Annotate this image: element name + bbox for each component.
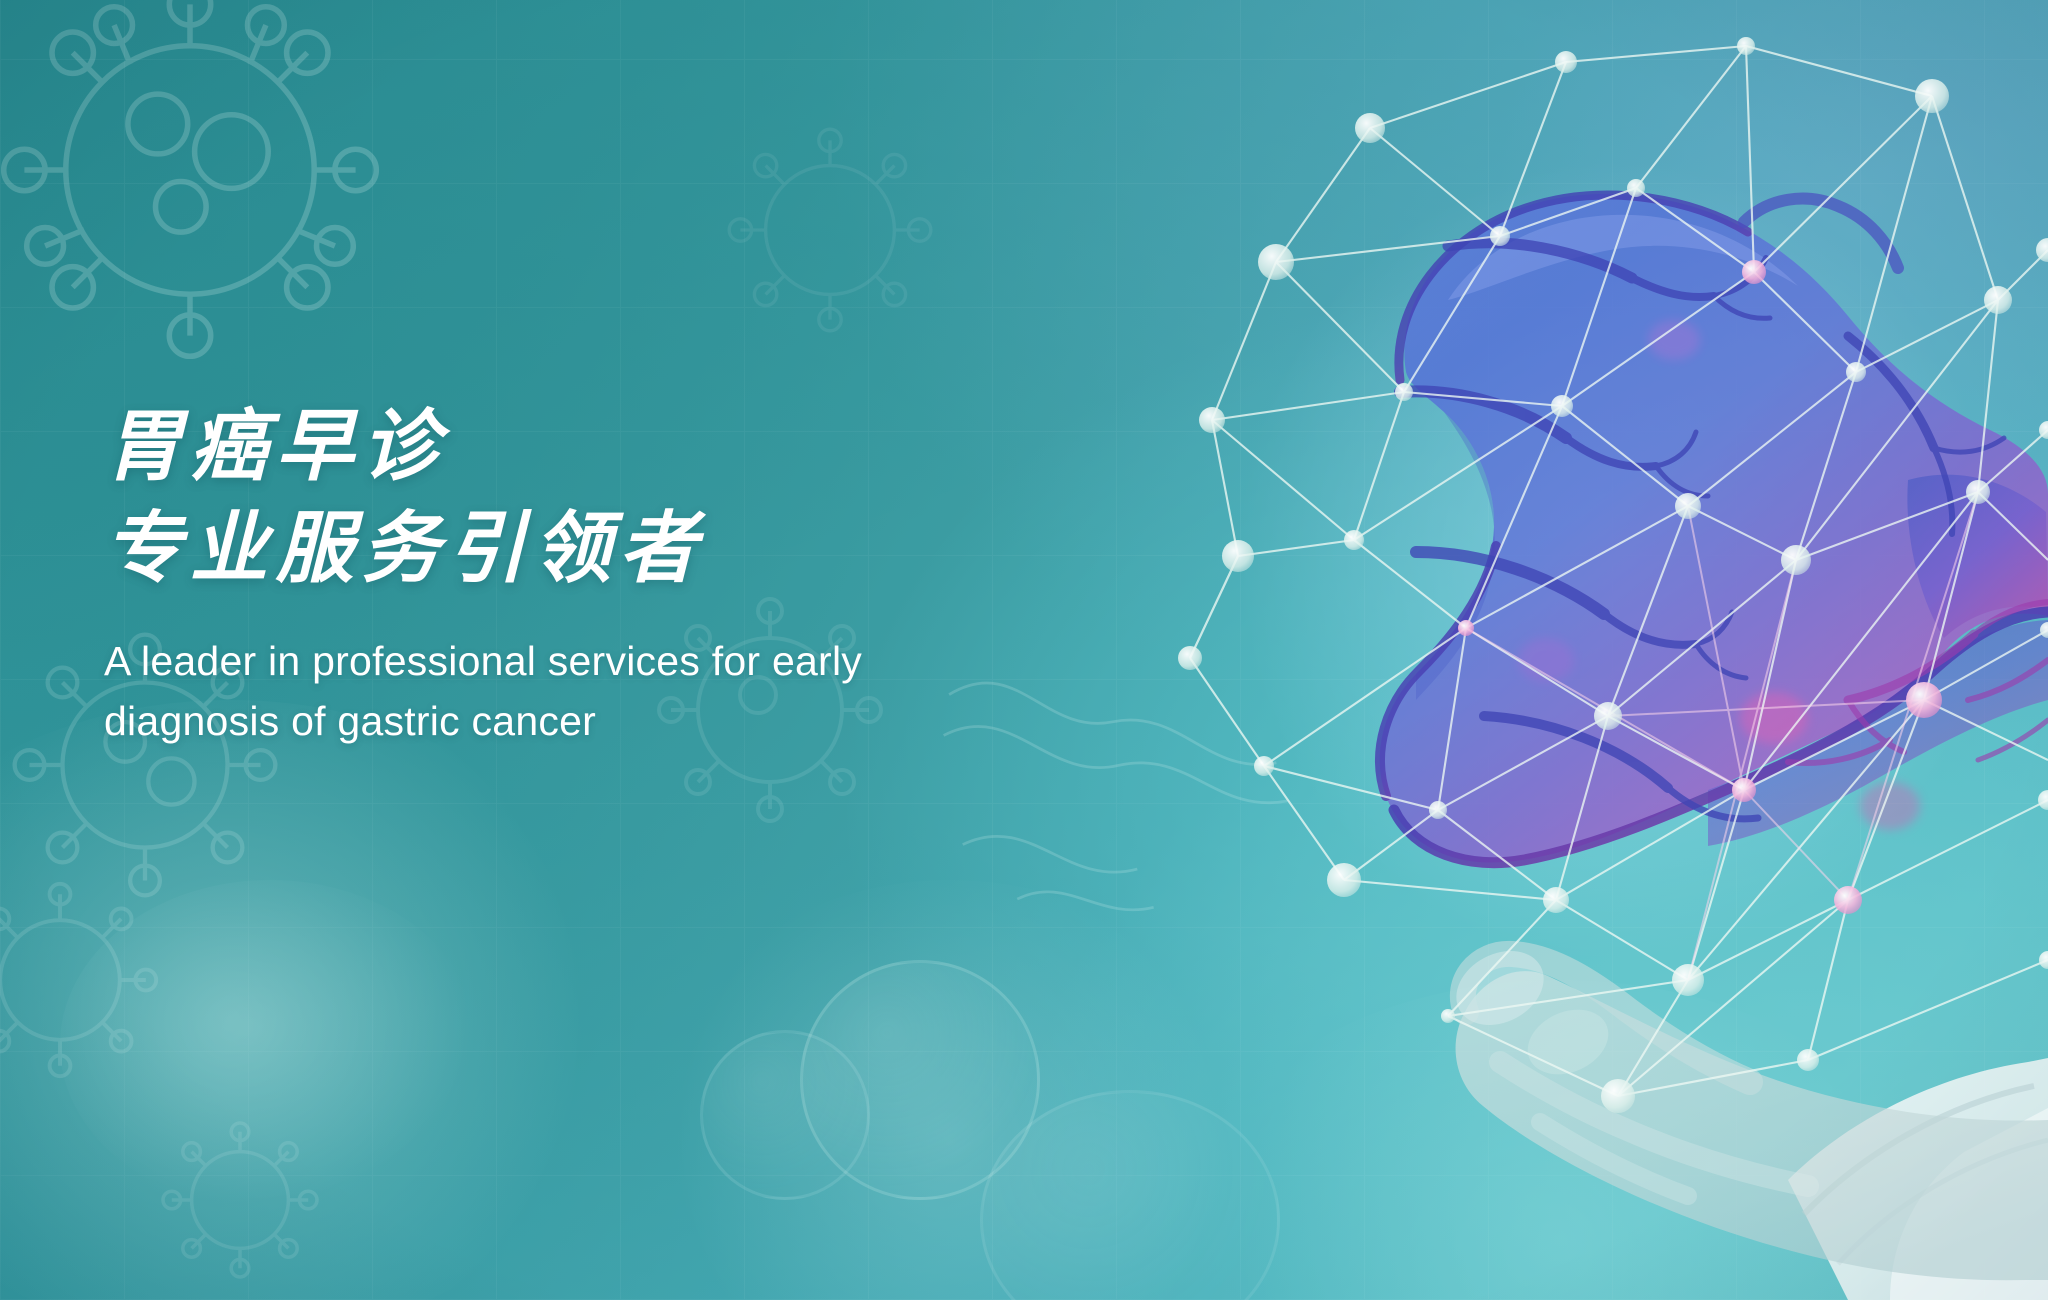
stomach-artwork [1148, 0, 2048, 1300]
hero-banner: 胃癌早诊 专业服务引领者 A leader in professional se… [0, 0, 2048, 1300]
stomach-network-illustration [1148, 0, 2048, 1300]
page-subtitle: A leader in professional services for ea… [104, 632, 1104, 751]
headline-line-2: 专业服务引领者 [104, 502, 1154, 594]
page-title: 胃癌早诊 专业服务引领者 [104, 400, 1154, 594]
subtitle-line-2: diagnosis of gastric cancer [104, 692, 1104, 751]
hero-copy: 胃癌早诊 专业服务引领者 A leader in professional se… [104, 400, 1154, 751]
headline-line-1: 胃癌早诊 [104, 400, 1154, 492]
subtitle-line-1: A leader in professional services for ea… [104, 632, 1104, 691]
